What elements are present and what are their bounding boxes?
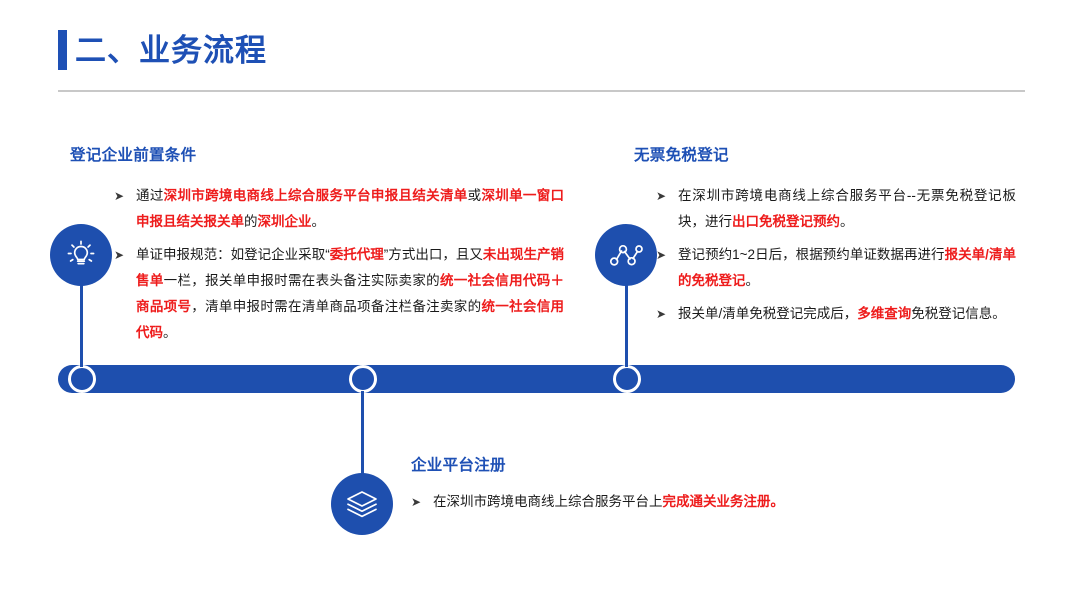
network-nodes-icon: [595, 224, 657, 286]
list-item: ➤登记预约1~2日后，根据预约单证数据再进行报关单/清单的免税登记。: [656, 242, 1016, 294]
section-heading-prereq: 登记企业前置条件: [70, 143, 196, 165]
highlighted-text: 多维查询: [857, 306, 911, 321]
list-item-text: 在深圳市跨境电商线上综合服务平台上完成通关业务注册。: [433, 489, 891, 515]
section-heading-register: 企业平台注册: [411, 453, 506, 475]
highlighted-text: 深圳企业: [258, 214, 312, 229]
list-item-text: 报关单/清单免税登记完成后，多维查询免税登记信息。: [678, 301, 1016, 327]
list-item: ➤在深圳市跨境电商线上综合服务平台上完成通关业务注册。: [411, 489, 891, 515]
list-item-text: 通过深圳市跨境电商线上综合服务平台申报且结关清单或深圳单一窗口申报且结关报关单的…: [136, 183, 564, 235]
highlighted-text: 完成通关业务注册。: [663, 494, 785, 509]
connector-line-prereq: [80, 285, 83, 367]
highlighted-text: 报关单/清单的免税登记: [678, 247, 1016, 288]
connector-line-taxfree: [625, 285, 628, 367]
list-item-text: 登记预约1~2日后，根据预约单证数据再进行报关单/清单的免税登记。: [678, 242, 1016, 294]
bullet-list-taxfree: ➤在深圳市跨境电商线上综合服务平台--无票免税登记板块，进行出口免税登记预约。➤…: [656, 183, 1016, 334]
bullet-arrow-icon: ➤: [656, 183, 678, 209]
list-item-text: 单证申报规范：如登记企业采取“委托代理”方式出口，且又未出现生产销售单一栏，报关…: [136, 242, 564, 346]
highlighted-text: 委托代理: [330, 247, 384, 262]
highlighted-text: 出口免税登记预约: [732, 214, 840, 229]
bullet-arrow-icon: ➤: [656, 301, 678, 327]
page-title-group: 二、业务流程: [58, 30, 267, 70]
bullet-arrow-icon: ➤: [656, 242, 678, 268]
list-item: ➤通过深圳市跨境电商线上综合服务平台申报且结关清单或深圳单一窗口申报且结关报关单…: [114, 183, 564, 235]
timeline-node-1[interactable]: [68, 365, 96, 393]
title-accent-bar: [58, 30, 67, 70]
timeline-node-2[interactable]: [349, 365, 377, 393]
section-heading-taxfree: 无票免税登记: [634, 143, 729, 165]
bullet-arrow-icon: ➤: [114, 183, 136, 209]
list-item-text: 在深圳市跨境电商线上综合服务平台--无票免税登记板块，进行出口免税登记预约。: [678, 183, 1016, 235]
layers-stack-icon: [331, 473, 393, 535]
lightbulb-icon: [50, 224, 112, 286]
title-divider: [58, 90, 1025, 92]
bullet-arrow-icon: ➤: [411, 489, 433, 515]
list-item: ➤在深圳市跨境电商线上综合服务平台--无票免税登记板块，进行出口免税登记预约。: [656, 183, 1016, 235]
bullet-list-prereq: ➤通过深圳市跨境电商线上综合服务平台申报且结关清单或深圳单一窗口申报且结关报关单…: [114, 183, 564, 353]
bullet-list-register: ➤在深圳市跨境电商线上综合服务平台上完成通关业务注册。: [411, 489, 891, 522]
highlighted-text: 深圳市跨境电商线上综合服务平台申报且结关清单: [164, 188, 468, 203]
bullet-arrow-icon: ➤: [114, 242, 136, 268]
list-item: ➤报关单/清单免税登记完成后，多维查询免税登记信息。: [656, 301, 1016, 327]
timeline-node-3[interactable]: [613, 365, 641, 393]
page-title: 二、业务流程: [75, 35, 267, 66]
highlighted-text: 统一社会信用代码: [136, 299, 564, 340]
list-item: ➤单证申报规范：如登记企业采取“委托代理”方式出口，且又未出现生产销售单一栏，报…: [114, 242, 564, 346]
timeline-bar: [58, 365, 1015, 393]
